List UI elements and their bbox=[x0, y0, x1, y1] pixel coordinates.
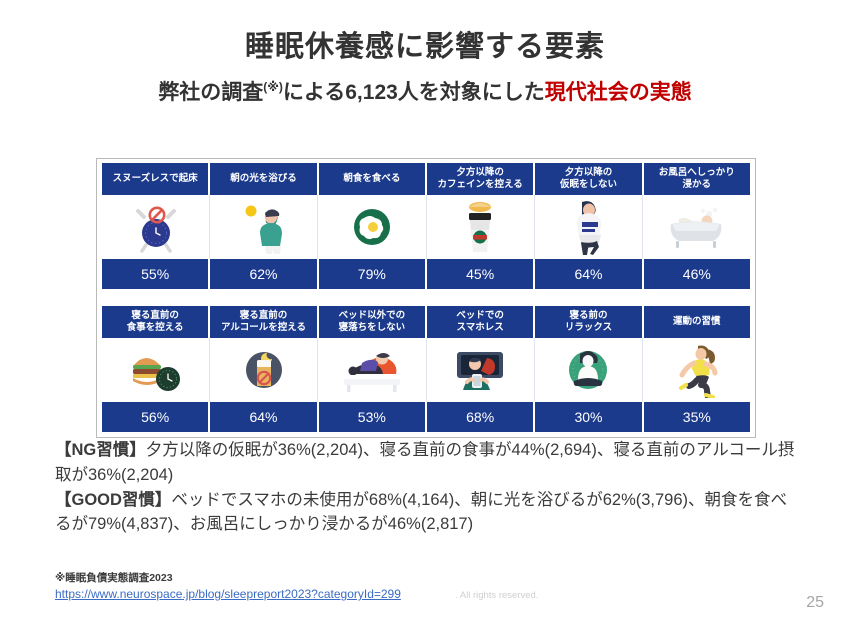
table-icon-cell bbox=[643, 195, 750, 259]
meditation-relax-icon bbox=[562, 344, 614, 396]
table-icon-cell bbox=[427, 338, 535, 402]
header-text: 夕方以降の bbox=[456, 167, 504, 178]
header-row-1: スヌーズレスで起床 朝の光を浴びる 朝食を食べる 夕方以降のカフェインを控える … bbox=[102, 163, 750, 195]
header-text: ベッドでの bbox=[456, 310, 504, 321]
alarm-clock-no-snooze-icon bbox=[132, 201, 180, 253]
slide-root: 睡眠休養感に影響する要素 弊社の調査(※)による6,123人を対象にした現代社会… bbox=[0, 30, 850, 631]
good-habits-paragraph: 【GOOD習慣】ベッドでスマホの未使用が68%(4,164)、朝に光を浴びるが6… bbox=[55, 488, 800, 538]
value-row-2: 56% 64% 53% 68% 30% 35% bbox=[102, 402, 750, 432]
summary-text: 【NG習慣】夕方以降の仮眠が36%(2,204)、寝る直前の食事が44%(2,6… bbox=[55, 438, 800, 537]
table-header-cell: 朝の光を浴びる bbox=[210, 163, 318, 195]
table-value-cell: 45% bbox=[427, 259, 535, 289]
habits-table-block-1: スヌーズレスで起床 朝の光を浴びる 朝食を食べる 夕方以降のカフェインを控える … bbox=[97, 159, 755, 294]
table-icon-cell bbox=[427, 195, 535, 259]
table-header-cell: ベッド以外での寝落ちをしない bbox=[319, 306, 427, 338]
table-value-cell: 68% bbox=[427, 402, 535, 432]
icon-row-1 bbox=[102, 195, 750, 259]
smartphone-in-bed-icon bbox=[451, 346, 509, 394]
header-text: スヌーズレスで起床 bbox=[113, 173, 198, 185]
header-text: 寝る前の bbox=[569, 310, 607, 321]
table-value-cell: 64% bbox=[210, 402, 318, 432]
header-text: 朝食を食べる bbox=[343, 173, 400, 185]
subtitle: 弊社の調査(※)による6,123人を対象にした現代社会の実態 bbox=[0, 80, 850, 106]
source-url-link[interactable]: https://www.neurospace.jp/blog/sleeprepo… bbox=[55, 587, 401, 601]
header-text-line2: スマホレス bbox=[457, 322, 504, 333]
table-icon-cell bbox=[102, 195, 210, 259]
header-text-line2: アルコールを控える bbox=[221, 322, 306, 333]
subtitle-part1: 弊社の調査 bbox=[158, 81, 263, 104]
header-text: 寝る直前の bbox=[131, 310, 179, 321]
ng-habits-label: 【NG習慣】 bbox=[55, 441, 146, 459]
header-text-line2: 寝落ちをしない bbox=[339, 322, 406, 333]
table-header-cell: 寝る直前のアルコールを控える bbox=[210, 306, 318, 338]
table-header-cell: 寝る前のリラックス bbox=[535, 306, 643, 338]
header-text: ベッド以外での bbox=[339, 310, 406, 321]
page-title: 睡眠休養感に影響する要素 bbox=[0, 30, 850, 65]
coffee-cup-icon bbox=[460, 199, 500, 255]
table-value-cell: 30% bbox=[535, 402, 643, 432]
good-habits-label: 【GOOD習慣】 bbox=[55, 491, 171, 509]
running-person-icon bbox=[672, 342, 720, 398]
table-icon-cell bbox=[318, 338, 426, 402]
table-header-cell: スヌーズレスで起床 bbox=[102, 163, 210, 195]
person-morning-sun-icon bbox=[237, 200, 291, 254]
header-text: 夕方以降の bbox=[565, 167, 613, 178]
header-text-line2: カフェインを控える bbox=[438, 179, 523, 190]
icon-row-2 bbox=[102, 338, 750, 402]
alcohol-no-night-icon bbox=[239, 345, 289, 395]
ng-habits-paragraph: 【NG習慣】夕方以降の仮眠が36%(2,204)、寝る直前の食事が44%(2,6… bbox=[55, 438, 800, 488]
header-text: 寝る直前の bbox=[240, 310, 288, 321]
table-value-cell: 79% bbox=[319, 259, 427, 289]
table-header-cell: 夕方以降のカフェインを控える bbox=[427, 163, 535, 195]
table-icon-cell bbox=[643, 338, 750, 402]
subtitle-superscript: (※) bbox=[263, 80, 283, 94]
table-icon-cell bbox=[210, 195, 318, 259]
table-header-cell: 朝食を食べる bbox=[319, 163, 427, 195]
table-header-cell: お風呂へしっかり浸かる bbox=[644, 163, 750, 195]
ng-habits-text: 夕方以降の仮眠が36%(2,204)、寝る直前の食事が44%(2,694)、寝る… bbox=[55, 441, 794, 484]
header-text-line2: 食事を控える bbox=[127, 322, 184, 333]
person-napping-chair-icon bbox=[564, 198, 612, 256]
bathtub-icon bbox=[665, 204, 727, 250]
table-header-cell: 夕方以降の仮眠をしない bbox=[535, 163, 643, 195]
table-value-cell: 64% bbox=[535, 259, 643, 289]
table-icon-cell bbox=[210, 338, 318, 402]
table-row-gap bbox=[97, 294, 755, 302]
header-text: 運動の習慣 bbox=[673, 316, 721, 328]
header-text-line2: リラックス bbox=[565, 322, 612, 333]
table-value-cell: 56% bbox=[102, 402, 210, 432]
subtitle-highlight: 現代社会の実態 bbox=[545, 81, 692, 104]
table-icon-cell bbox=[318, 195, 426, 259]
table-header-cell: ベッドでのスマホレス bbox=[427, 306, 535, 338]
header-text: お風呂へしっかり bbox=[659, 167, 735, 178]
header-row-2: 寝る直前の食事を控える 寝る直前のアルコールを控える ベッド以外での寝落ちをしな… bbox=[102, 306, 750, 338]
table-value-cell: 55% bbox=[102, 259, 210, 289]
page-number: 25 bbox=[806, 594, 824, 612]
table-value-cell: 53% bbox=[319, 402, 427, 432]
table-value-cell: 46% bbox=[644, 259, 750, 289]
table-value-cell: 62% bbox=[210, 259, 318, 289]
header-text: 朝の光を浴びる bbox=[230, 173, 297, 185]
burger-clock-icon bbox=[128, 347, 184, 393]
subtitle-part2: による6,123人を対象にした bbox=[283, 81, 545, 104]
header-text-line2: 仮眠をしない bbox=[560, 179, 617, 190]
person-asleep-sofa-icon bbox=[340, 347, 404, 393]
source-footnote: ※睡眠負債実態調査2023 bbox=[55, 570, 173, 585]
table-icon-cell bbox=[535, 195, 643, 259]
table-value-cell: 35% bbox=[644, 402, 750, 432]
habits-table: スヌーズレスで起床 朝の光を浴びる 朝食を食べる 夕方以降のカフェインを控える … bbox=[96, 158, 756, 438]
copyright-text: . All rights reserved. bbox=[455, 590, 538, 601]
header-text-line2: 浸かる bbox=[683, 179, 712, 190]
fried-egg-breakfast-icon bbox=[347, 202, 397, 252]
table-header-cell: 運動の習慣 bbox=[644, 306, 750, 338]
table-header-cell: 寝る直前の食事を控える bbox=[102, 306, 210, 338]
habits-table-block-2: 寝る直前の食事を控える 寝る直前のアルコールを控える ベッド以外での寝落ちをしな… bbox=[97, 302, 755, 437]
table-icon-cell bbox=[102, 338, 210, 402]
table-icon-cell bbox=[535, 338, 643, 402]
value-row-1: 55% 62% 79% 45% 64% 46% bbox=[102, 259, 750, 289]
